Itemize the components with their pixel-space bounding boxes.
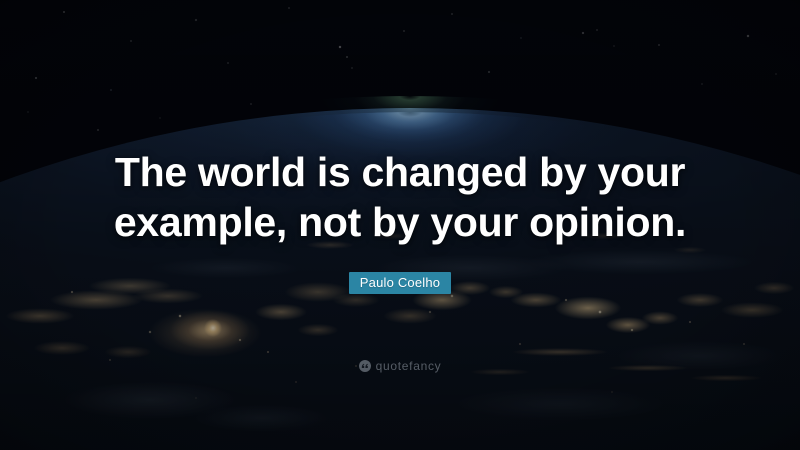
watermark[interactable]: quotefancy xyxy=(0,360,800,372)
quote-content: The world is changed by your example, no… xyxy=(0,0,800,450)
quote-text: The world is changed by your example, no… xyxy=(0,147,800,247)
quote-mark-badge-icon xyxy=(359,360,371,372)
watermark-label: quotefancy xyxy=(376,360,442,372)
quote-card: The world is changed by your example, no… xyxy=(0,0,800,450)
author-badge[interactable]: Paulo Coelho xyxy=(349,272,451,294)
